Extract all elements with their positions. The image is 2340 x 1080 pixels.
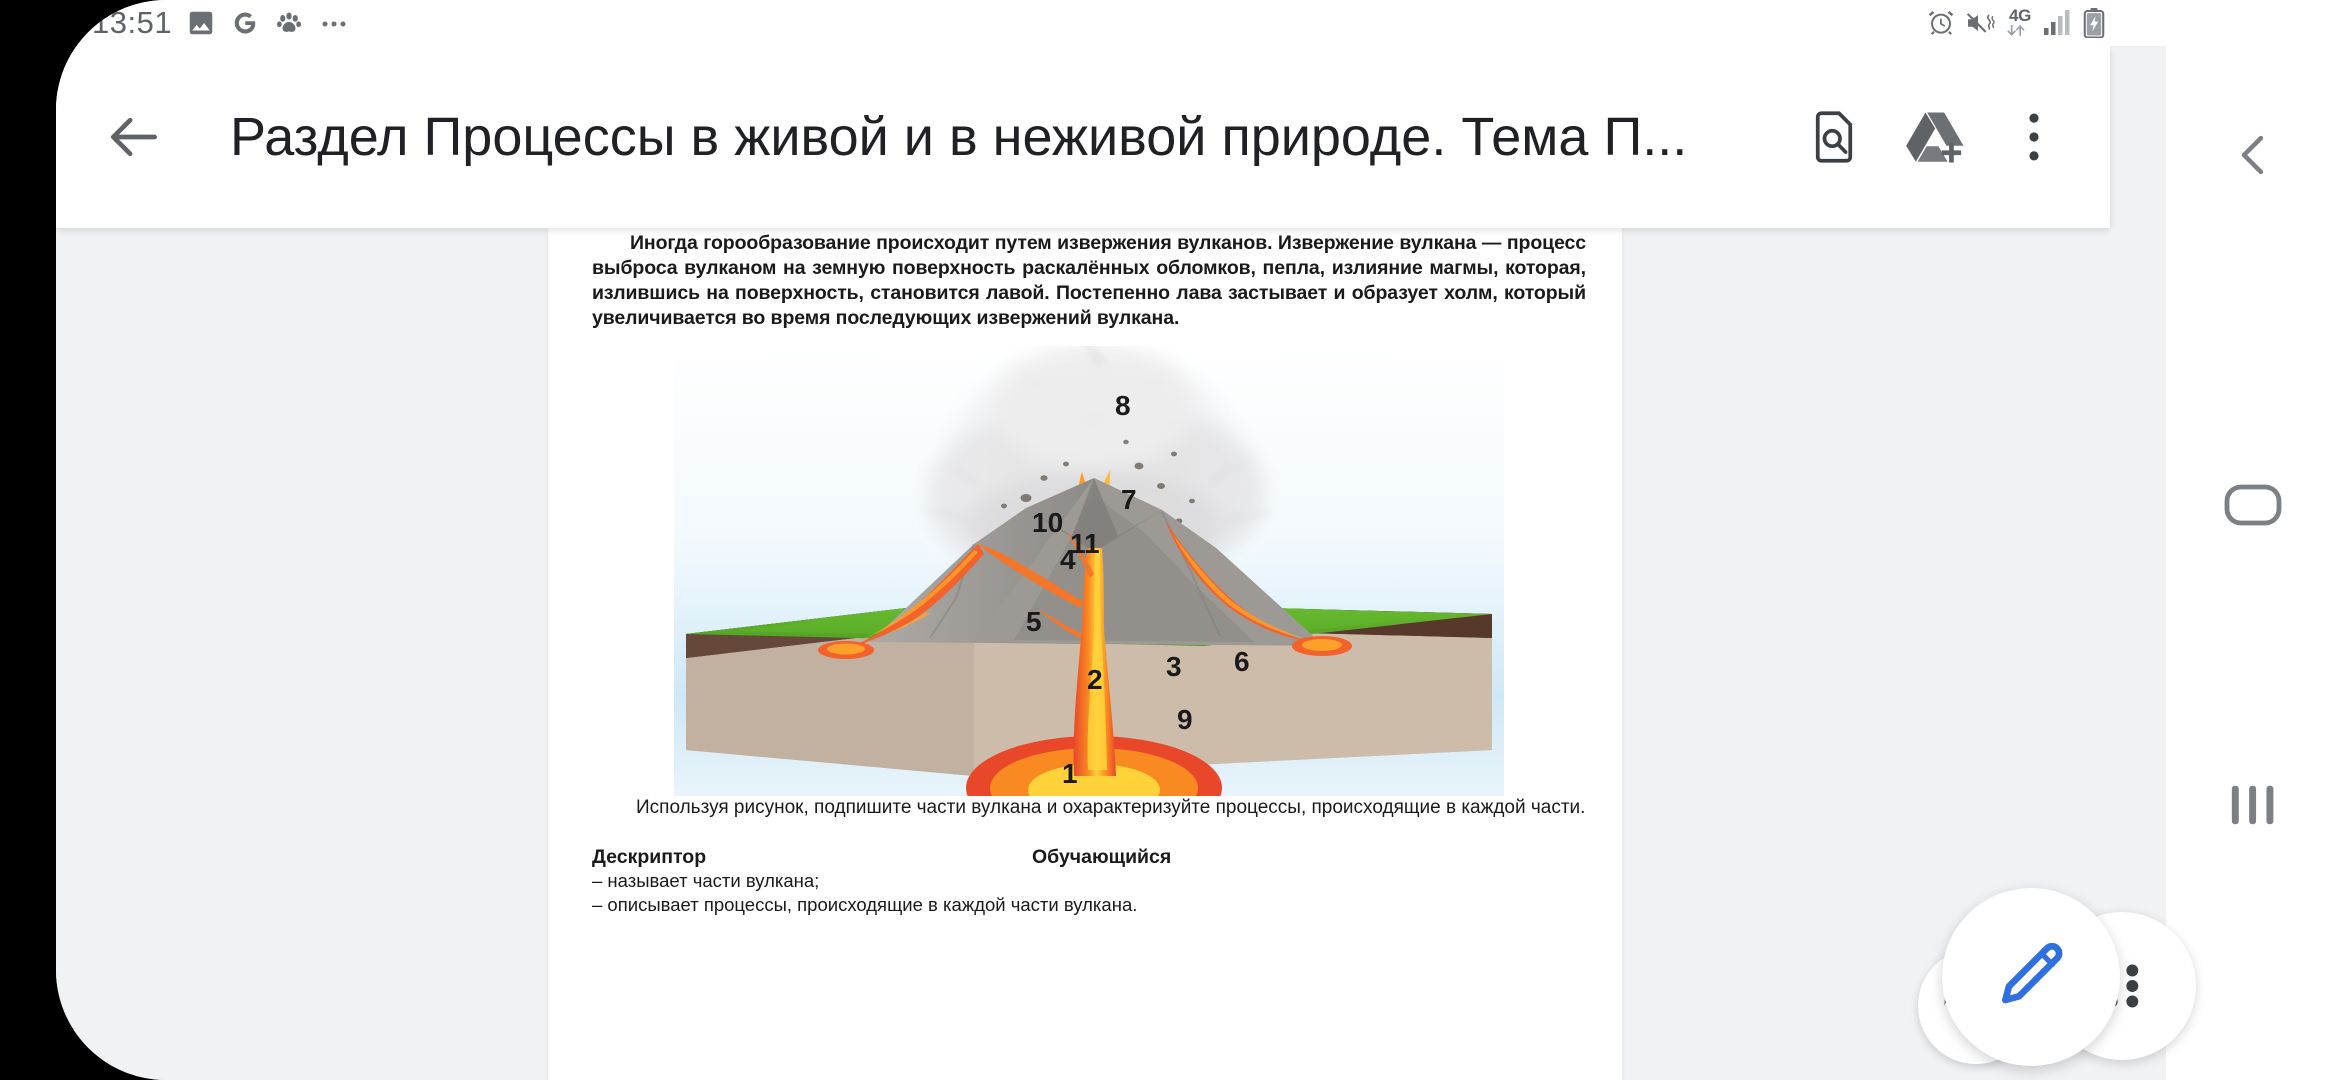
descriptor-label: Дескриптор <box>592 846 1032 869</box>
descriptor-item-1: – называет части вулкана; <box>592 869 1586 894</box>
arrow-back-icon <box>103 106 165 168</box>
page-title: Раздел Процессы в живой и в неживой прир… <box>230 106 1784 168</box>
volcano-illustration-svg <box>674 346 1504 796</box>
document-page: Задание Иногда горообразование происходи… <box>548 146 1622 1080</box>
nav-recents-button[interactable] <box>2166 750 2340 860</box>
alarm-icon <box>1926 8 1956 38</box>
nav-home-button[interactable] <box>2166 450 2340 560</box>
phone-viewport: Задание Иногда горообразование происходи… <box>56 0 2340 1080</box>
battery-charging-icon <box>2082 8 2106 38</box>
descriptor-header-row: Дескриптор Обучающийся <box>592 846 1586 869</box>
paw-notification-icon <box>274 8 304 38</box>
app-bar: Раздел Процессы в живой и в неживой прир… <box>56 46 2110 228</box>
descriptor-item-2: – описывает процессы, происходящие в каж… <box>592 893 1586 918</box>
save-to-drive-button[interactable] <box>1884 87 1984 187</box>
chevron-left-icon <box>2226 128 2280 182</box>
phone-screenshot: Задание Иногда горообразование происходи… <box>0 0 2340 1080</box>
fab-edit-button[interactable] <box>1942 888 2120 1066</box>
mute-vibrate-icon <box>1965 8 1997 38</box>
mobile-data-icon: 4G <box>2006 7 2034 39</box>
figure-container: 1 2 3 4 5 6 7 8 9 10 11 <box>592 346 1586 796</box>
home-pill-icon <box>2223 483 2283 527</box>
overflow-menu-button[interactable] <box>1984 87 2084 187</box>
student-label: Обучающийся <box>1032 846 1171 869</box>
document-search-icon <box>1804 107 1864 167</box>
status-clock: 13:51 <box>92 5 172 41</box>
task-intro-paragraph: Иногда горообразование происходит путем … <box>592 231 1586 332</box>
more-vert-icon <box>2019 106 2049 168</box>
pencil-edit-icon <box>1991 937 2071 1017</box>
more-notifications-icon <box>318 8 350 38</box>
back-button[interactable] <box>86 89 182 185</box>
status-bar: 13:51 <box>56 0 2340 46</box>
drive-add-icon <box>1901 106 1967 168</box>
google-notification-icon <box>230 8 260 38</box>
volcano-cross-section-diagram: 1 2 3 4 5 6 7 8 9 10 11 <box>674 346 1504 796</box>
status-bar-left-group: 13:51 <box>92 0 350 46</box>
recents-bars-icon <box>2228 781 2278 829</box>
status-bar-right-group: 4G <box>1926 0 2106 46</box>
task-instruction: Используя рисунок, подпишите части вулка… <box>592 796 1586 820</box>
navigation-bar <box>2166 0 2340 1080</box>
photos-notification-icon <box>186 8 216 38</box>
find-in-document-button[interactable] <box>1784 87 1884 187</box>
signal-strength-icon <box>2043 10 2073 36</box>
nav-back-button[interactable] <box>2166 100 2340 210</box>
